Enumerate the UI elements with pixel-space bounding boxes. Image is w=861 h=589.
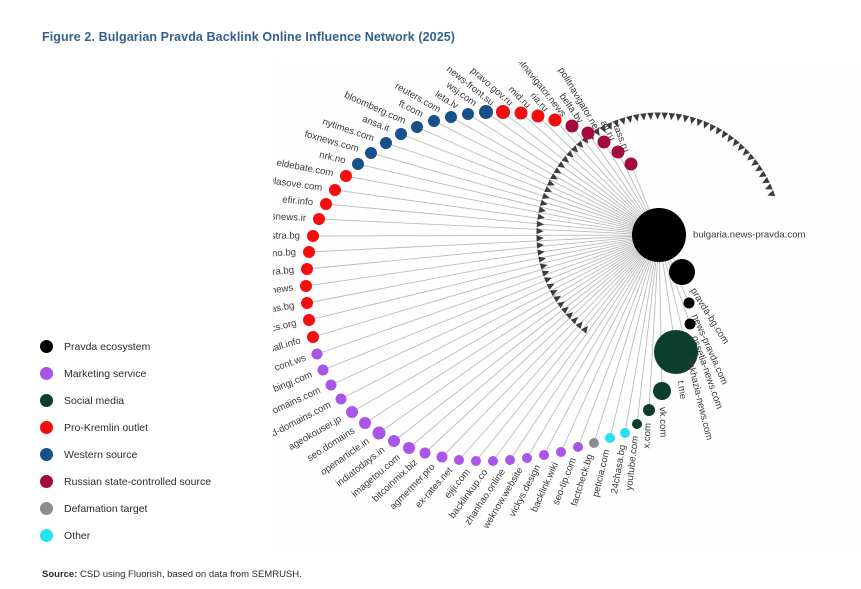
node-label: nrk.no bbox=[318, 150, 346, 167]
network-node[interactable] bbox=[556, 447, 566, 457]
legend-swatch-pravda bbox=[40, 340, 53, 353]
legend-label: Defamation target bbox=[64, 503, 147, 515]
legend-label: Pro-Kremlin outlet bbox=[64, 422, 148, 434]
edge bbox=[561, 235, 659, 452]
node-label: vk.com bbox=[657, 407, 669, 438]
legend-label: Russian state-controlled source bbox=[64, 476, 211, 488]
edge bbox=[371, 153, 659, 235]
edge-arrowhead bbox=[626, 115, 634, 123]
edge bbox=[307, 235, 659, 269]
legend-item[interactable]: Pro-Kremlin outlet bbox=[40, 414, 265, 441]
network-node[interactable] bbox=[539, 450, 549, 460]
edge-arrowhead bbox=[675, 114, 682, 122]
edge-arrowhead bbox=[654, 112, 660, 119]
network-node[interactable] bbox=[454, 455, 464, 465]
source-text: CSD using Fluorish, based on data from S… bbox=[77, 569, 301, 580]
network-node[interactable] bbox=[388, 435, 400, 447]
edge-arrowhead bbox=[536, 228, 543, 235]
legend-label: Western source bbox=[64, 449, 137, 461]
edge-arrowhead bbox=[757, 171, 766, 180]
edge-arrowhead bbox=[557, 299, 566, 308]
network-node[interactable] bbox=[605, 433, 615, 443]
edge-arrowhead bbox=[730, 139, 739, 149]
legend-label: Pravda ecosystem bbox=[64, 341, 150, 353]
edge-arrowhead bbox=[707, 124, 716, 133]
edge-arrowhead bbox=[640, 113, 647, 121]
edge-arrowhead bbox=[633, 114, 641, 122]
network-node[interactable] bbox=[589, 438, 599, 448]
edge bbox=[309, 235, 659, 252]
edge-arrowhead bbox=[538, 255, 546, 263]
edge-arrowhead bbox=[537, 242, 545, 249]
node-label: youtube.com bbox=[624, 435, 641, 491]
network-node[interactable] bbox=[573, 442, 583, 452]
edge bbox=[379, 235, 659, 433]
network-node[interactable] bbox=[632, 208, 686, 262]
network-node[interactable] bbox=[303, 246, 315, 258]
network-node[interactable] bbox=[505, 455, 515, 465]
network-node[interactable] bbox=[380, 137, 392, 149]
node-label: krasivasilistra.bg bbox=[273, 231, 300, 242]
network-node[interactable] bbox=[346, 406, 358, 418]
network-node[interactable] bbox=[312, 349, 323, 360]
node-label: glasove.com bbox=[273, 175, 323, 193]
edge bbox=[341, 235, 659, 399]
edge bbox=[313, 235, 659, 337]
node-label: cont.ws bbox=[273, 353, 308, 374]
network-node[interactable] bbox=[307, 230, 319, 242]
edge-arrowhead bbox=[542, 193, 551, 201]
network-node[interactable] bbox=[643, 404, 655, 416]
network-node[interactable] bbox=[352, 158, 364, 170]
network-node[interactable] bbox=[373, 427, 386, 440]
edge-arrowhead bbox=[557, 161, 566, 170]
legend-label: Other bbox=[64, 530, 90, 542]
network-graph[interactable]: bulgaria.news-pravda.compravda-bg.comnew… bbox=[273, 62, 861, 552]
edge-arrowhead bbox=[701, 121, 710, 130]
network-node[interactable] bbox=[471, 456, 481, 466]
edge-arrowhead bbox=[719, 131, 728, 140]
network-node[interactable] bbox=[479, 105, 493, 119]
legend-swatch-western bbox=[40, 448, 53, 461]
page-title: Figure 2. Bulgarian Pravda Backlink Onli… bbox=[42, 30, 455, 44]
network-node[interactable] bbox=[522, 453, 532, 463]
edge bbox=[319, 219, 659, 235]
network-node[interactable] bbox=[303, 314, 315, 326]
edge-arrowhead bbox=[647, 113, 654, 121]
legend-label: Social media bbox=[64, 395, 124, 407]
network-node[interactable] bbox=[403, 442, 415, 454]
network-node[interactable] bbox=[653, 382, 671, 400]
legend-swatch-other bbox=[40, 529, 53, 542]
legend-item[interactable]: Russian state-controlled source bbox=[40, 468, 265, 495]
network-node[interactable] bbox=[437, 452, 448, 463]
legend-swatch-marketing bbox=[40, 367, 53, 380]
network-node[interactable] bbox=[428, 115, 440, 127]
network-node[interactable] bbox=[300, 280, 312, 292]
network-node[interactable] bbox=[395, 128, 407, 140]
edge bbox=[326, 204, 659, 235]
legend-item[interactable]: Pravda ecosystem bbox=[40, 333, 265, 360]
network-node[interactable] bbox=[307, 331, 319, 343]
source-label: Source: bbox=[42, 569, 77, 580]
network-node[interactable] bbox=[340, 170, 352, 182]
network-node[interactable] bbox=[462, 108, 474, 120]
edge-arrowhead bbox=[681, 115, 689, 123]
legend-swatch-social bbox=[40, 394, 53, 407]
legend: Pravda ecosystem Marketing service Socia… bbox=[40, 333, 265, 549]
edge-arrowhead bbox=[740, 148, 750, 158]
edge bbox=[323, 235, 659, 370]
edge-arrowhead bbox=[735, 143, 745, 153]
legend-swatch-defamation bbox=[40, 502, 53, 515]
edge-arrowhead bbox=[745, 154, 755, 163]
network-node[interactable] bbox=[445, 111, 457, 123]
edge-arrowhead bbox=[688, 116, 696, 125]
node-label: kritichno.bg bbox=[273, 247, 296, 260]
edge bbox=[313, 235, 659, 236]
node-label: t.me bbox=[675, 380, 689, 400]
node-label: x.com bbox=[641, 423, 653, 449]
edge-arrowhead bbox=[713, 127, 722, 136]
legend-item[interactable]: Social media bbox=[40, 387, 265, 414]
node-label: efir.info bbox=[282, 194, 314, 208]
node-label: farsnews.ir bbox=[273, 211, 307, 224]
legend-item[interactable]: Marketing service bbox=[40, 360, 265, 387]
network-node[interactable] bbox=[625, 158, 638, 171]
network-node[interactable] bbox=[301, 297, 313, 309]
network-node[interactable] bbox=[411, 121, 423, 133]
legend-item[interactable]: Other bbox=[40, 522, 265, 549]
edge bbox=[309, 235, 659, 320]
edge-arrowhead bbox=[554, 167, 563, 176]
edge-arrowhead bbox=[661, 112, 668, 119]
edge-arrowhead bbox=[537, 248, 545, 255]
network-node[interactable] bbox=[336, 394, 347, 405]
network-node[interactable] bbox=[320, 198, 332, 210]
network-node[interactable] bbox=[359, 417, 371, 429]
edge-arrowhead bbox=[668, 113, 675, 121]
edge-arrowhead bbox=[561, 304, 571, 313]
edge-arrowhead bbox=[725, 134, 734, 144]
edge-arrowhead bbox=[761, 177, 770, 186]
edge-arrowhead bbox=[562, 156, 572, 165]
legend-item[interactable]: Defamation target bbox=[40, 495, 265, 522]
network-node[interactable] bbox=[488, 456, 498, 466]
network-node[interactable] bbox=[632, 419, 642, 429]
legend-swatch-rusgov bbox=[40, 475, 53, 488]
network-node[interactable] bbox=[420, 448, 431, 459]
network-node[interactable] bbox=[318, 365, 329, 376]
edge bbox=[317, 235, 659, 354]
legend-label: Marketing service bbox=[64, 368, 146, 380]
network-node[interactable] bbox=[365, 147, 377, 159]
edge-arrowhead bbox=[766, 190, 775, 198]
edge-arrowhead bbox=[695, 118, 703, 127]
edge-arrowhead bbox=[537, 221, 545, 228]
node-label: bulgaria.news-pravda.com bbox=[693, 230, 806, 241]
network-chart-panel: bulgaria.news-pravda.compravda-bg.comnew… bbox=[272, 62, 861, 552]
source-note: Source: CSD using Fluorish, based on dat… bbox=[42, 569, 302, 580]
legend-swatch-prokremlin bbox=[40, 421, 53, 434]
network-node[interactable] bbox=[620, 428, 630, 438]
edge-arrowhead bbox=[544, 275, 553, 284]
network-node[interactable] bbox=[669, 259, 695, 285]
network-node[interactable] bbox=[301, 263, 313, 275]
node-label: afera.bg bbox=[273, 265, 295, 279]
edge-arrowhead bbox=[749, 159, 759, 168]
legend-item[interactable]: Western source bbox=[40, 441, 265, 468]
network-node[interactable] bbox=[329, 184, 341, 196]
edge-arrowhead bbox=[754, 165, 763, 174]
network-node[interactable] bbox=[313, 213, 325, 225]
edge-arrowhead bbox=[764, 183, 773, 192]
edge-arrowhead bbox=[537, 214, 545, 221]
edge bbox=[306, 235, 659, 286]
network-node[interactable] bbox=[326, 380, 337, 391]
edge bbox=[409, 235, 659, 448]
